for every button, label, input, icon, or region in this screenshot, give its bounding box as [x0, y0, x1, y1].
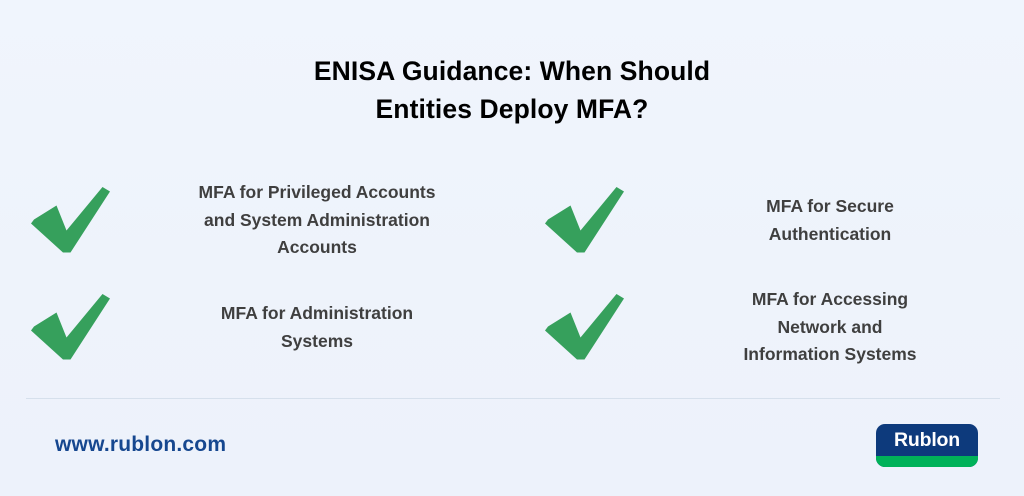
slide-canvas: ENISA Guidance: When Should Entities Dep… — [0, 0, 1024, 496]
title-line-1: ENISA Guidance: When Should — [0, 52, 1024, 90]
point-label: MFA for Accessing Network and Informatio… — [632, 286, 1014, 369]
point-label: MFA for Secure Authentication — [632, 193, 1014, 248]
green-checkmark-icon — [26, 290, 114, 366]
point-item: MFA for Secure Authentication — [540, 173, 1014, 268]
point-label-line: MFA for Privileged Accounts — [118, 179, 516, 207]
point-label-line: MFA for Administration — [118, 300, 516, 328]
point-label-line: Network and — [646, 314, 1014, 342]
title-line-2: Entities Deploy MFA? — [0, 90, 1024, 128]
point-label-line: Accounts — [118, 234, 516, 262]
green-checkmark-icon — [540, 183, 628, 259]
points-grid: MFA for Privileged Accounts and System A… — [0, 168, 1024, 383]
point-label: MFA for Privileged Accounts and System A… — [118, 179, 516, 262]
logo-wordmark: Rublon — [876, 424, 978, 456]
page-title: ENISA Guidance: When Should Entities Dep… — [0, 52, 1024, 128]
footer-divider — [26, 398, 1000, 399]
point-label-line: and System Administration — [118, 207, 516, 235]
rublon-logo: Rublon — [876, 424, 978, 467]
green-checkmark-icon — [26, 183, 114, 259]
point-label-line: MFA for Accessing — [646, 286, 1014, 314]
point-item: MFA for Accessing Network and Informatio… — [540, 280, 1014, 375]
point-label-line: Systems — [118, 328, 516, 356]
footer: www.rublon.com Rublon — [0, 410, 1024, 496]
website-url-link[interactable]: www.rublon.com — [55, 433, 226, 457]
point-label-line: Information Systems — [646, 341, 1014, 369]
point-label-line: Authentication — [646, 221, 1014, 249]
point-label: MFA for Administration Systems — [118, 300, 516, 355]
point-item: MFA for Privileged Accounts and System A… — [26, 173, 516, 268]
green-checkmark-icon — [540, 290, 628, 366]
point-label-line: MFA for Secure — [646, 193, 1014, 221]
point-item: MFA for Administration Systems — [26, 280, 516, 375]
logo-green-band — [876, 456, 978, 467]
